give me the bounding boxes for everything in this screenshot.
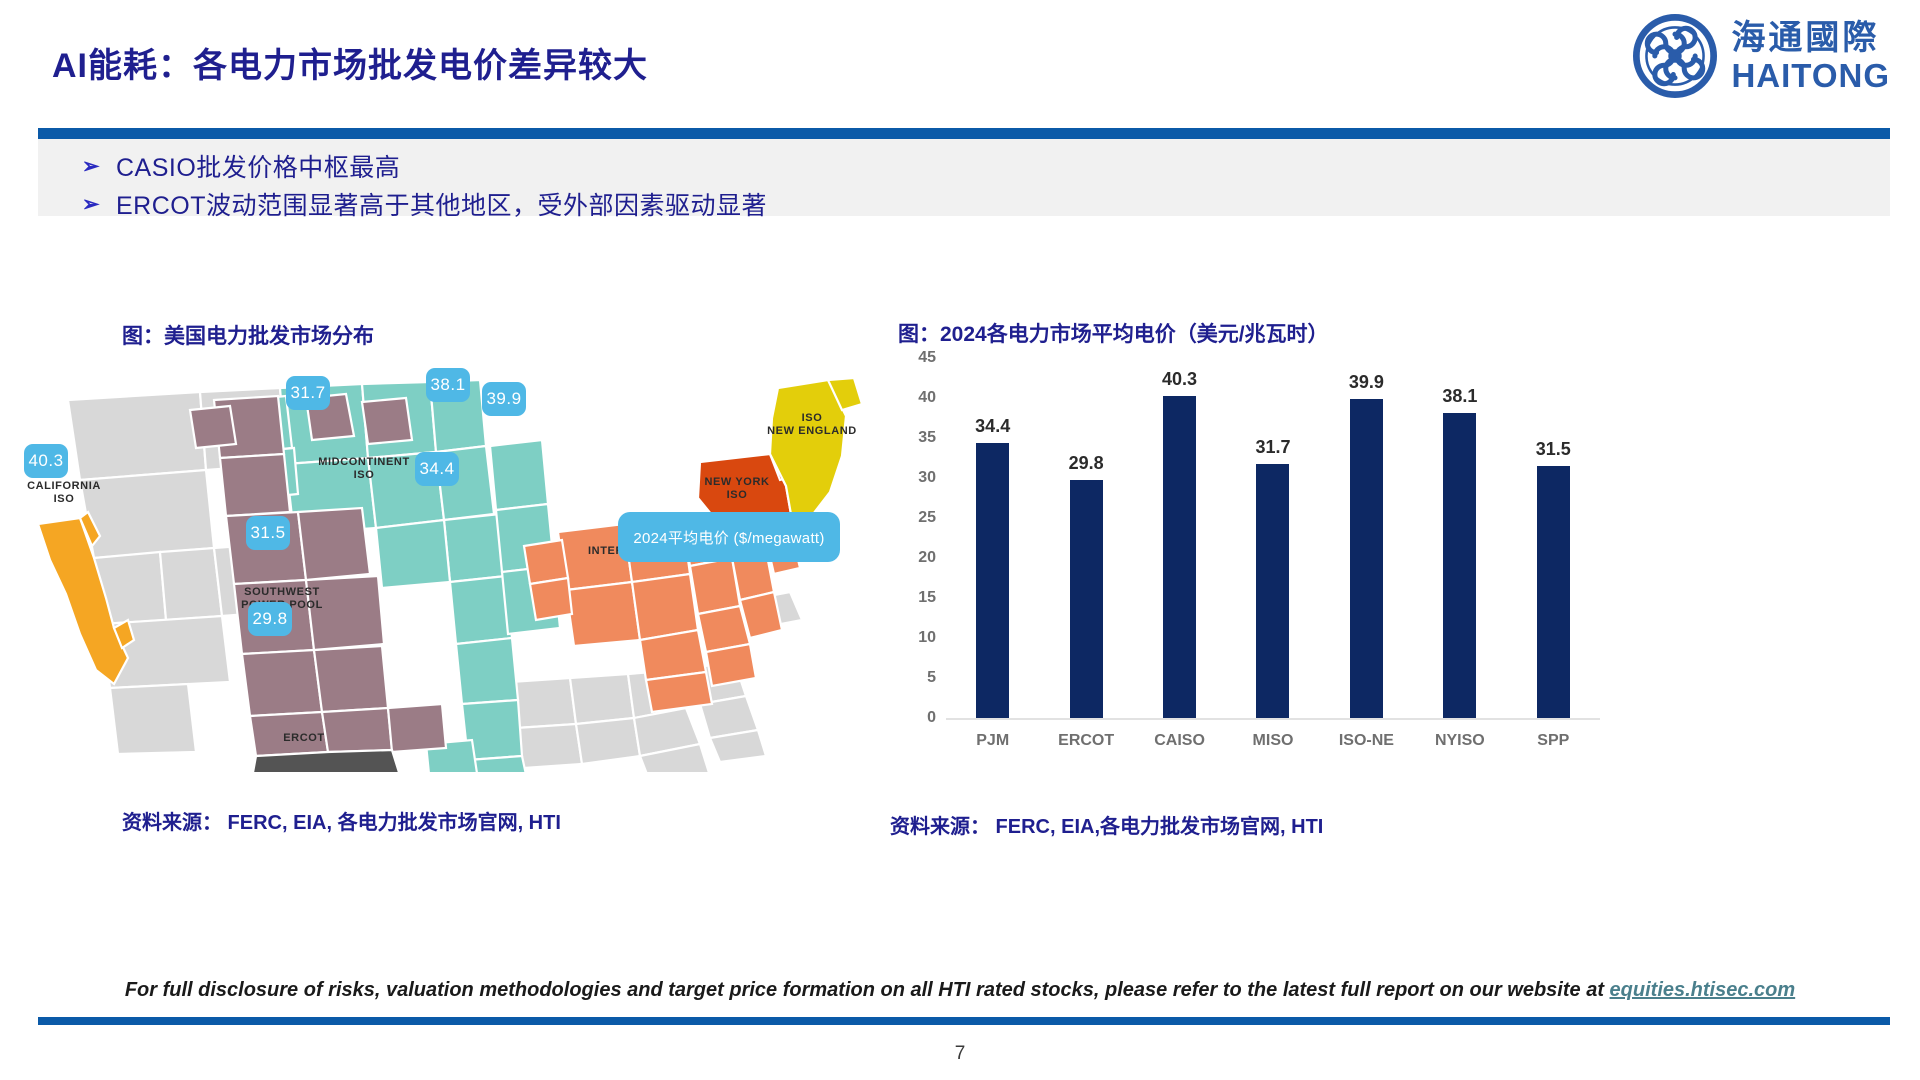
bar-column: 38.1	[1413, 358, 1506, 718]
x-axis-tick: ERCOT	[1058, 732, 1114, 750]
bar-value-label: 38.1	[1442, 386, 1477, 407]
footer-divider-rule	[38, 1017, 1890, 1025]
bullet-text: CASIO批发价格中枢最高	[116, 148, 400, 184]
price-badge-iso-new-england: 39.9	[482, 382, 526, 416]
logo-chinese-name: 海通國際	[1731, 21, 1890, 55]
map-legend-badge: 2024平均电价 ($/megawatt)	[618, 512, 840, 562]
bullet-arrow-icon: ➢	[82, 154, 116, 179]
y-axis-tick: 0	[927, 709, 936, 727]
company-logo: 海通國際 HAITONG	[1633, 14, 1890, 98]
avg-price-bar-chart: 051015202530354045PJM34.4ERCOT29.8CAISO4…	[880, 358, 1600, 758]
bar-column: 40.3	[1133, 358, 1226, 718]
bullet-item: ➢ CASIO批发价格中枢最高	[82, 147, 1890, 185]
bar-column: 29.8	[1039, 358, 1132, 718]
y-axis-tick: 20	[918, 549, 936, 567]
y-axis-tick: 45	[918, 349, 936, 367]
x-axis-tick: PJM	[976, 732, 1009, 750]
price-badge-southwest-power-pool: 31.5	[246, 516, 290, 550]
bar	[1163, 396, 1196, 718]
bar-value-label: 31.7	[1255, 437, 1290, 458]
price-badge-midcontinent-iso: 31.7	[286, 376, 330, 410]
footer-disclaimer: For full disclosure of risks, valuation …	[0, 979, 1920, 1002]
bar	[1256, 464, 1289, 718]
price-badge-ercot: 29.8	[248, 602, 292, 636]
bar-value-label: 29.8	[1069, 453, 1104, 474]
footer-disclaimer-text: For full disclosure of risks, valuation …	[125, 979, 1610, 1001]
map-source-note: 资料来源： FERC, EIA, 各电力批发市场官网, HTI	[122, 806, 561, 835]
x-axis-tick: SPP	[1537, 732, 1569, 750]
x-axis-tick: NYISO	[1435, 732, 1485, 750]
us-wholesale-market-map: CALIFORNIA ISO SOUTHWEST POWER POOL ERCO…	[10, 352, 870, 772]
y-axis-tick: 25	[918, 509, 936, 527]
logo-wordmark: 海通國際 HAITONG	[1731, 21, 1890, 92]
bar-column: 34.4	[946, 358, 1039, 718]
header-divider-rule	[38, 128, 1890, 139]
bar-value-label: 40.3	[1162, 369, 1197, 390]
bullet-arrow-icon: ➢	[82, 192, 116, 217]
bar	[1350, 399, 1383, 718]
x-axis-tick: ISO-NE	[1339, 732, 1394, 750]
bar-value-label: 31.5	[1536, 439, 1571, 460]
y-axis-tick: 35	[918, 429, 936, 447]
y-axis-tick: 15	[918, 589, 936, 607]
bullet-text: ERCOT波动范围显著高于其他地区，受外部因素驱动显著	[116, 186, 767, 222]
bar	[1070, 480, 1103, 718]
us-map-svg	[10, 352, 870, 772]
bar	[1443, 413, 1476, 718]
bar-value-label: 39.9	[1349, 372, 1384, 393]
bar	[1537, 466, 1570, 718]
haitong-swirl-icon	[1633, 14, 1717, 98]
price-badge-pjm-interconnection: 34.4	[415, 452, 459, 486]
bullet-panel: ➢ CASIO批发价格中枢最高 ➢ ERCOT波动范围显著高于其他地区，受外部因…	[38, 139, 1890, 216]
y-axis-tick: 10	[918, 629, 936, 647]
chart-plot-area: 051015202530354045PJM34.4ERCOT29.8CAISO4…	[946, 358, 1600, 720]
map-panel-title: 图：美国电力批发市场分布	[122, 320, 374, 350]
x-axis-tick: CAISO	[1154, 732, 1205, 750]
y-axis-tick: 40	[918, 389, 936, 407]
chart-source-note: 资料来源： FERC, EIA,各电力批发市场官网, HTI	[890, 810, 1323, 839]
bullet-item: ➢ ERCOT波动范围显著高于其他地区，受外部因素驱动显著	[82, 185, 1890, 223]
price-badge-new-york-iso: 38.1	[426, 368, 470, 402]
page-title: AI能耗：各电力市场批发电价差异较大	[52, 38, 648, 87]
bar-value-label: 34.4	[975, 416, 1010, 437]
logo-english-name: HAITONG	[1731, 59, 1890, 92]
price-badge-california-iso: 40.3	[24, 444, 68, 478]
page-number: 7	[0, 1043, 1920, 1065]
bar	[976, 443, 1009, 718]
y-axis-tick: 30	[918, 469, 936, 487]
bar-column: 39.9	[1320, 358, 1413, 718]
footer-website-link[interactable]: equities.htisec.com	[1610, 979, 1796, 1001]
y-axis-tick: 5	[927, 669, 936, 687]
x-axis-tick: MISO	[1253, 732, 1294, 750]
bar-column: 31.7	[1226, 358, 1319, 718]
chart-panel-title: 图：2024各电力市场平均电价（美元/兆瓦时）	[898, 318, 1329, 348]
bar-column: 31.5	[1507, 358, 1600, 718]
